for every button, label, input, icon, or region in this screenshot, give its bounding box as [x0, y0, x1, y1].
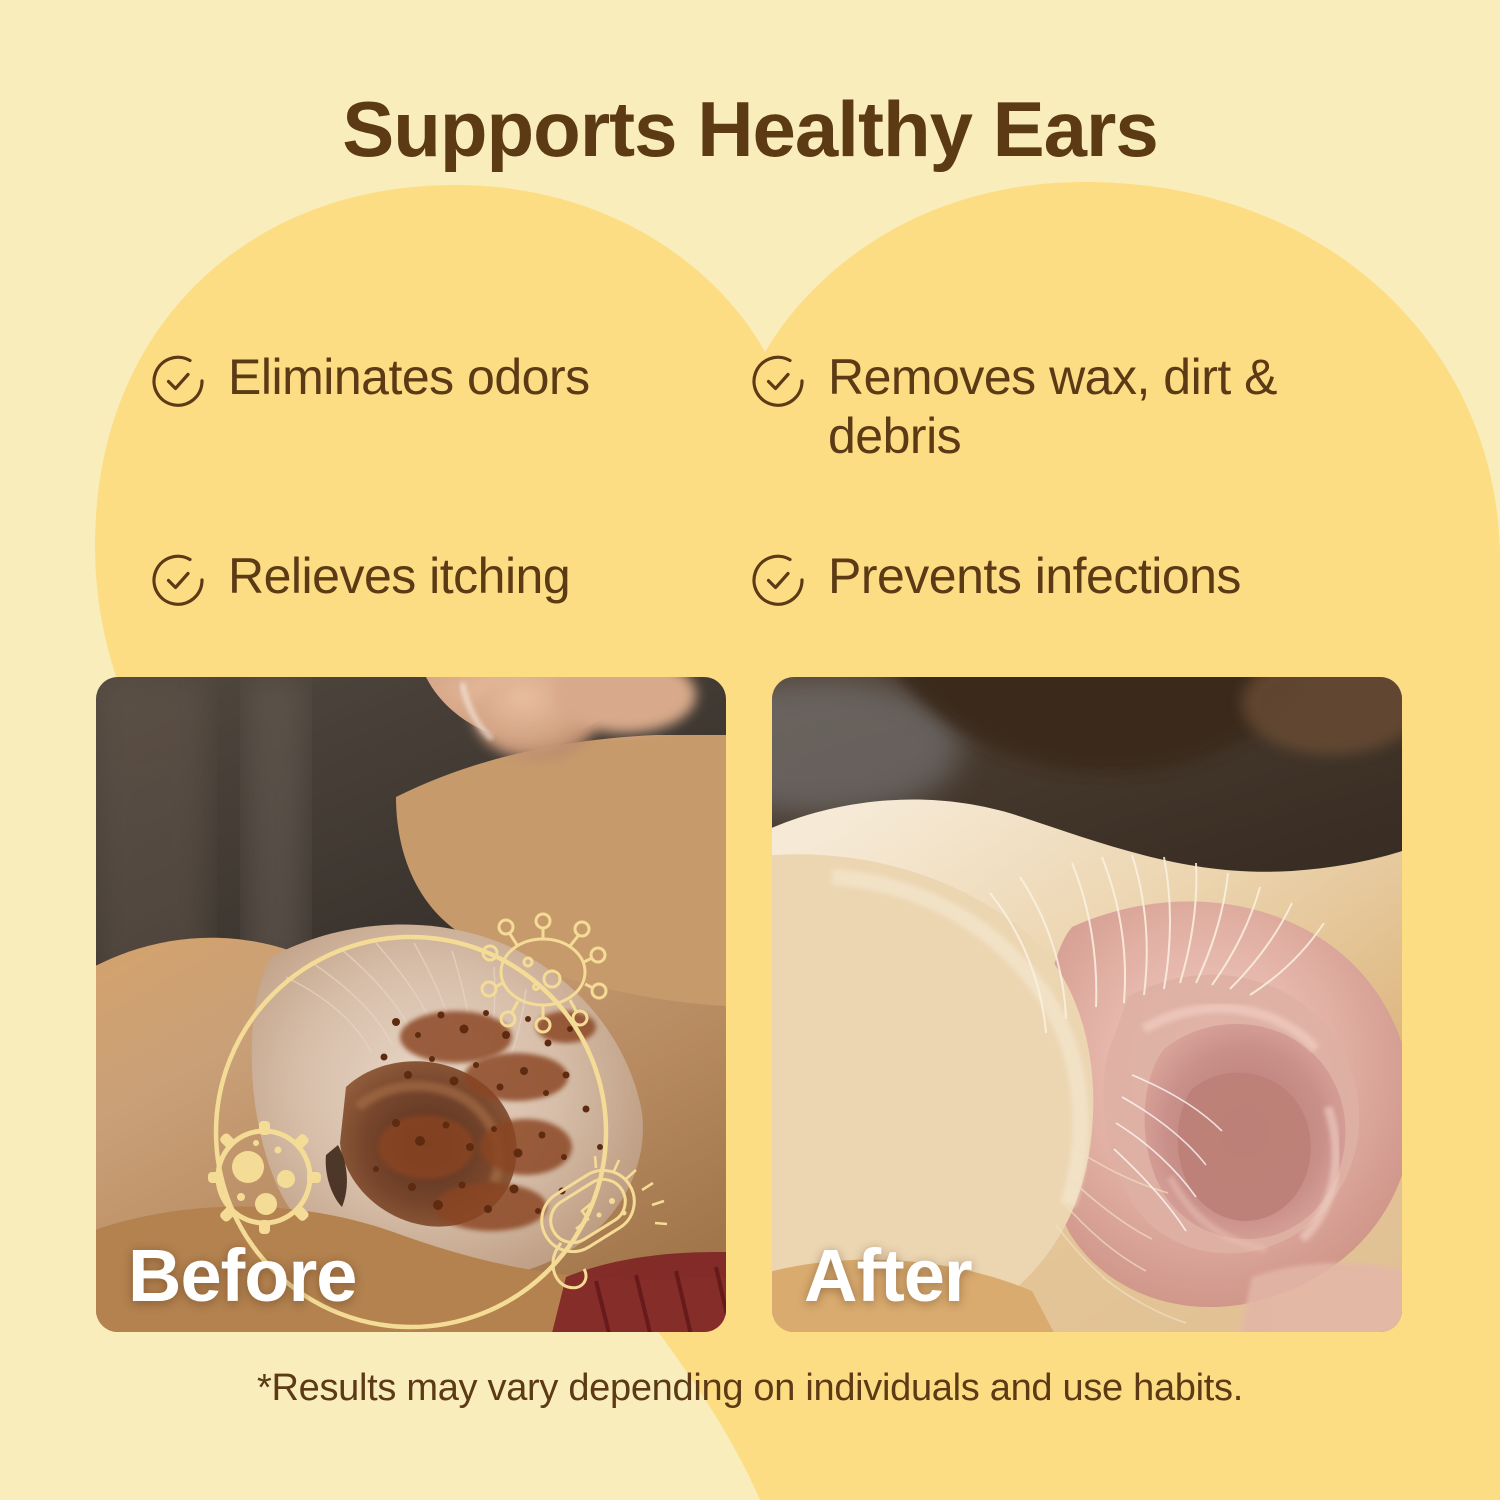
- check-circle-icon: [150, 353, 206, 414]
- before-photo: Before: [96, 677, 726, 1332]
- after-photo: After: [772, 677, 1402, 1332]
- benefit-label: Prevents infections: [828, 547, 1241, 606]
- page-title: Supports Healthy Ears: [0, 84, 1500, 175]
- disclaimer-footnote: *Results may vary depending on individua…: [0, 1367, 1500, 1410]
- check-circle-icon: [750, 552, 806, 613]
- before-photo-image: [96, 677, 726, 1332]
- after-photo-image: [772, 677, 1402, 1332]
- benefit-item-relieves-itching: Relieves itching: [150, 547, 750, 613]
- check-circle-icon: [150, 552, 206, 613]
- benefits-list: Eliminates odors Removes wax, dirt & deb…: [150, 348, 1380, 613]
- benefit-label: Removes wax, dirt & debris: [828, 348, 1370, 465]
- check-circle-icon: [750, 353, 806, 414]
- benefit-label: Relieves itching: [228, 547, 570, 606]
- benefit-label: Eliminates odors: [228, 348, 590, 407]
- benefit-item-removes-wax-dirt-debris: Removes wax, dirt & debris: [750, 348, 1370, 465]
- benefit-item-prevents-infections: Prevents infections: [750, 547, 1370, 613]
- benefit-item-eliminates-odors: Eliminates odors: [150, 348, 750, 465]
